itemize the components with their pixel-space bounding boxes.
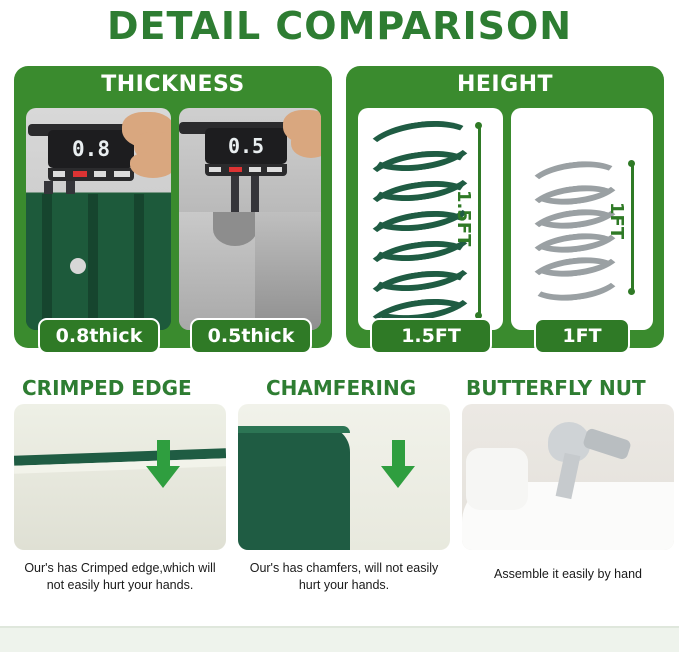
height-ours-pill: 1.5FT — [370, 318, 492, 354]
feature-photo-chamfering — [238, 404, 450, 550]
footer-bar — [0, 628, 679, 652]
caliper-value-ours: 0.8 — [72, 137, 110, 161]
height-others-photo: 1FT OTHER'S — [511, 108, 653, 330]
caliper-display-ours: 0.8 — [48, 130, 134, 168]
feature-photo-crimped-edge — [14, 404, 226, 550]
height-ours-measure-label: 1.5FT — [453, 190, 474, 246]
height-others-pill: 1FT — [534, 318, 630, 354]
feature-title-crimped-edge: CRIMPED EDGE — [22, 376, 192, 400]
panel-thickness-heading: THICKNESS — [14, 72, 332, 97]
feature-caption-chamfering: Our's has chamfers, will not easily hurt… — [238, 560, 450, 594]
height-ours-photo: 1.5FT OUR'S — [358, 108, 503, 330]
thickness-others-pill: 0.5thick — [190, 318, 312, 354]
coil-stack-others — [527, 162, 617, 292]
feature-photo-butterfly-nut — [462, 404, 674, 550]
feature-caption-butterfly-nut: Assemble it easily by hand — [462, 566, 674, 583]
caliper-value-others: 0.5 — [228, 134, 264, 158]
detail-comparison-infographic: DETAIL COMPARISON THICKNESS 0.8 — [0, 0, 679, 652]
panel-height-heading: HEIGHT — [346, 72, 664, 97]
page-title: DETAIL COMPARISON — [0, 4, 679, 48]
caliper-display-others: 0.5 — [205, 128, 287, 164]
feature-caption-crimped-edge: Our's has Crimped edge,which will not ea… — [14, 560, 226, 594]
thickness-ours-photo: 0.8 OUR'S — [26, 108, 171, 330]
feature-title-chamfering: CHAMFERING — [266, 376, 416, 400]
height-others-measure-label: 1FT — [606, 202, 627, 239]
thickness-others-photo: 0.5 OTHER'S — [179, 108, 321, 330]
panel-thickness: THICKNESS 0.8 OUR'S — [14, 66, 332, 348]
thickness-ours-pill: 0.8thick — [38, 318, 160, 354]
feature-title-butterfly-nut: BUTTERFLY NUT — [466, 376, 646, 400]
panel-height: HEIGHT 1.5FT OUR'S 1.5FT — [346, 66, 664, 348]
